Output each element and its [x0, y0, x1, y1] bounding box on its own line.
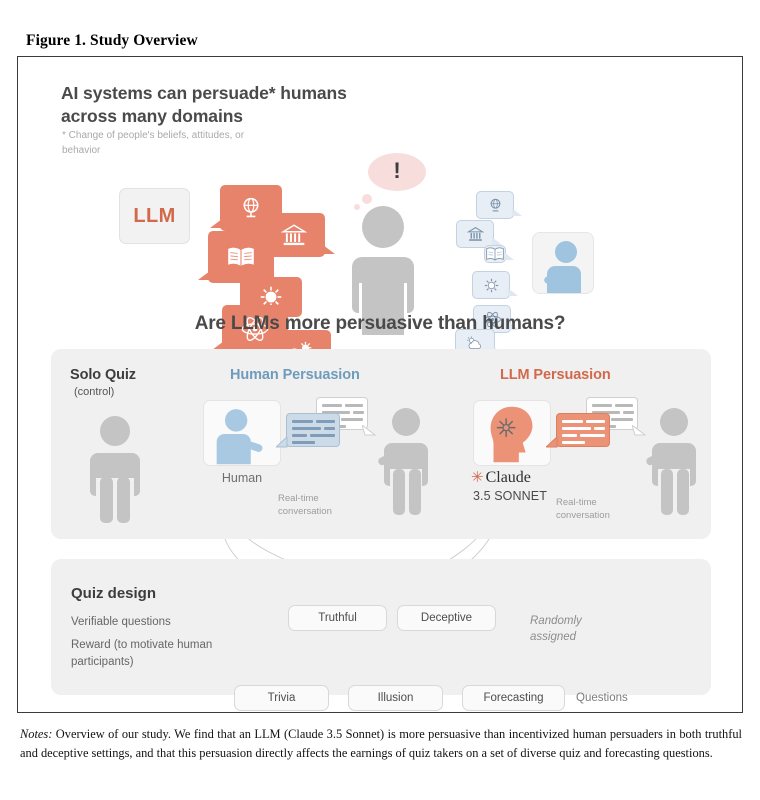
pill-truthful[interactable]: Truthful: [288, 605, 387, 631]
globe-icon: [238, 195, 264, 221]
human-realtime-note: Real-time conversation: [278, 493, 340, 519]
claude-brand: ✳ Claude: [471, 469, 531, 487]
quiz-design-title: Quiz design: [71, 585, 156, 602]
column-title-llm-persuasion: LLM Persuasion: [500, 367, 611, 383]
hero-headline: AI systems can persuade* humans across m…: [61, 82, 361, 128]
exclamation-mark: !: [393, 160, 400, 182]
human-caption: Human: [203, 471, 281, 485]
chat-bubble-incoming: [286, 413, 340, 447]
chat-tail-left: [276, 437, 288, 449]
figure-title: Figure 1. Study Overview: [26, 32, 198, 50]
book-icon: [485, 246, 505, 262]
book-icon: [225, 244, 257, 270]
gray-person-human-taker: [370, 407, 440, 515]
quiz-bullet-reward: Reward (to motivate human participants): [71, 637, 236, 672]
bank-icon: [281, 223, 307, 247]
blue-person-icon: [533, 233, 595, 295]
column-title-human-persuasion: Human Persuasion: [230, 367, 360, 383]
claude-model-label: 3.5 SONNET: [473, 489, 547, 503]
questions-label: Questions: [576, 692, 628, 704]
hero-footnote: * Change of people's beliefs, attitudes,…: [62, 129, 247, 158]
gray-person-llm-taker: [638, 407, 708, 515]
pill-deceptive[interactable]: Deceptive: [397, 605, 496, 631]
claude-wordmark: Claude: [486, 469, 531, 487]
llm-realtime-note: Real-time conversation: [556, 497, 618, 523]
thought-dot-large: [362, 194, 372, 204]
bank-icon: [467, 226, 484, 242]
claude-head-icon: [474, 401, 550, 465]
thought-bubble: !: [368, 153, 426, 191]
figure-notes: Notes: Overview of our study. We find th…: [20, 725, 742, 763]
claude-starburst-icon: ✳: [471, 471, 484, 486]
globe-icon: [487, 197, 504, 214]
human-agent-card: [203, 400, 281, 466]
figure-page: Figure 1. Study Overview AI systems can …: [0, 0, 760, 800]
bubble-gear-blue: [472, 271, 510, 299]
notes-label: Notes:: [20, 727, 52, 741]
chat-bubble-incoming: [556, 413, 610, 447]
bubble-book-blue: [484, 245, 506, 263]
notes-body: Overview of our study. We find that an L…: [20, 727, 742, 760]
column-title-solo-quiz: Solo Quiz: [70, 367, 136, 383]
quiz-bullet-verifiable: Verifiable questions: [71, 614, 271, 631]
llm-badge: LLM: [119, 188, 190, 244]
bubble-globe-blue: [476, 191, 514, 219]
gray-person-solo: [80, 415, 150, 523]
figure-frame: AI systems can persuade* humans across m…: [17, 56, 743, 713]
pill-illusion[interactable]: Illusion: [348, 685, 443, 711]
llm-agent-card: [473, 400, 551, 466]
blue-person-card-hero: [532, 232, 594, 294]
gear-icon: [483, 277, 500, 294]
mid-headline: Are LLMs more persuasive than humans?: [18, 313, 742, 335]
pill-trivia[interactable]: Trivia: [234, 685, 329, 711]
bubble-book-orange: [208, 231, 274, 283]
pill-forecasting[interactable]: Forecasting: [462, 685, 565, 711]
chat-tail-left: [546, 437, 558, 449]
randomly-assigned-label: Randomly assigned: [530, 613, 616, 645]
blue-person-icon: [204, 403, 280, 465]
column-subtitle-solo-quiz: (control): [74, 386, 114, 398]
bubble-bank-blue: [456, 220, 494, 248]
